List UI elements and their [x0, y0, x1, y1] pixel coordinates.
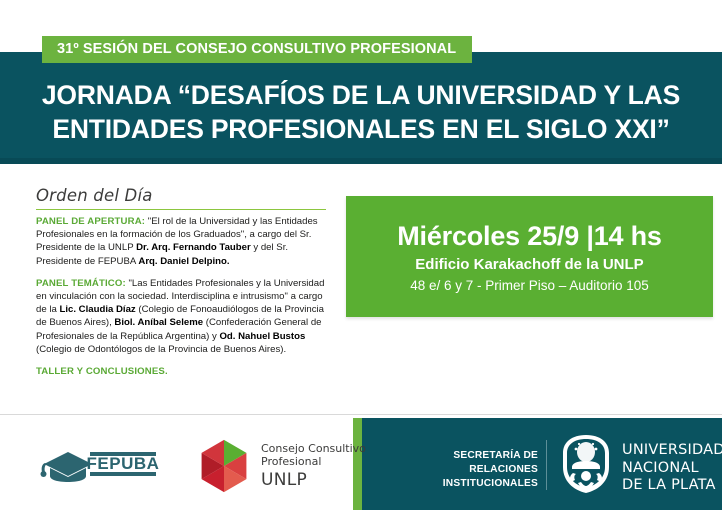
- agenda-item-label: PANEL DE APERTURA:: [36, 216, 145, 227]
- page-title: JORNADA “DESAFÍOS DE LA UNIVERSIDAD Y LA…: [0, 78, 722, 146]
- event-datetime: Miércoles 25/9 |14 hs: [346, 220, 713, 252]
- secretaria-line-2: RELACIONES INSTITUCIONALES: [372, 463, 538, 491]
- consejo-line-1: Consejo Consultivo: [261, 442, 366, 456]
- unlp-wordmark: UNIVERSIDAD NACIONAL DE LA PLATA: [622, 442, 722, 495]
- unlp-seal-icon: [558, 433, 614, 495]
- fepuba-logo-text: FEPUBA: [87, 454, 160, 473]
- unlp-line-1: UNIVERSIDAD: [622, 442, 722, 460]
- secretaria-label: SECRETARÍA DE RELACIONES INSTITUCIONALES: [372, 449, 538, 491]
- agenda-item-label: PANEL TEMÁTICO:: [36, 278, 126, 289]
- agenda-item-text: Biol. Aníbal Seleme: [114, 317, 203, 328]
- unlp-line-2: NACIONAL: [622, 460, 722, 478]
- agenda-item: PANEL TEMÁTICO: "Las Entidades Profesion…: [36, 277, 326, 356]
- session-badge: 31º SESIÓN DEL CONSEJO CONSULTIVO PROFES…: [42, 36, 472, 63]
- consejo-logo-text: Consejo Consultivo Profesional UNLP: [261, 442, 366, 491]
- agenda-section: Orden del Día PANEL DE APERTURA: "El rol…: [36, 186, 326, 378]
- consejo-line-3: UNLP: [261, 470, 366, 491]
- header-band-shadow: [0, 158, 722, 164]
- title-line-1: JORNADA “DESAFÍOS DE LA UNIVERSIDAD Y LA…: [0, 78, 722, 112]
- agenda-item-text: (Colegio de Odontólogos de la Provincia …: [36, 344, 286, 355]
- unlp-line-3: DE LA PLATA: [622, 477, 722, 495]
- footer-divider: [0, 414, 722, 415]
- agenda-heading: Orden del Día: [36, 186, 326, 210]
- hexagon-icon: [196, 438, 252, 494]
- event-venue: Edificio Karakachoff de la UNLP: [346, 255, 713, 274]
- agenda-item: TALLER Y CONCLUSIONES.: [36, 365, 326, 378]
- footer-vertical-separator: [546, 440, 547, 490]
- fepuba-logo: FEPUBA: [38, 441, 160, 485]
- event-address: 48 e/ 6 y 7 - Primer Piso – Auditorio 10…: [346, 277, 713, 295]
- agenda-item-text: Dr. Arq. Fernando Tauber: [136, 242, 251, 253]
- agenda-item: PANEL DE APERTURA: "El rol de la Univers…: [36, 215, 326, 268]
- event-poster: 31º SESIÓN DEL CONSEJO CONSULTIVO PROFES…: [0, 0, 722, 510]
- date-info-box: Miércoles 25/9 |14 hs Edificio Karakacho…: [346, 196, 713, 317]
- title-line-2: ENTIDADES PROFESIONALES EN EL SIGLO XXI”: [0, 112, 722, 146]
- consejo-consultivo-logo: Consejo Consultivo Profesional UNLP: [196, 438, 366, 494]
- agenda-item-text: Od. Nahuel Bustos: [219, 331, 305, 342]
- agenda-item-list: PANEL DE APERTURA: "El rol de la Univers…: [36, 215, 326, 378]
- secretaria-line-1: SECRETARÍA DE: [372, 449, 538, 463]
- agenda-item-text: Arq. Daniel Delpino.: [138, 256, 229, 267]
- agenda-item-label: TALLER Y CONCLUSIONES.: [36, 366, 168, 377]
- consejo-line-2: Profesional: [261, 455, 366, 469]
- agenda-item-text: Lic. Claudia Díaz: [59, 304, 135, 315]
